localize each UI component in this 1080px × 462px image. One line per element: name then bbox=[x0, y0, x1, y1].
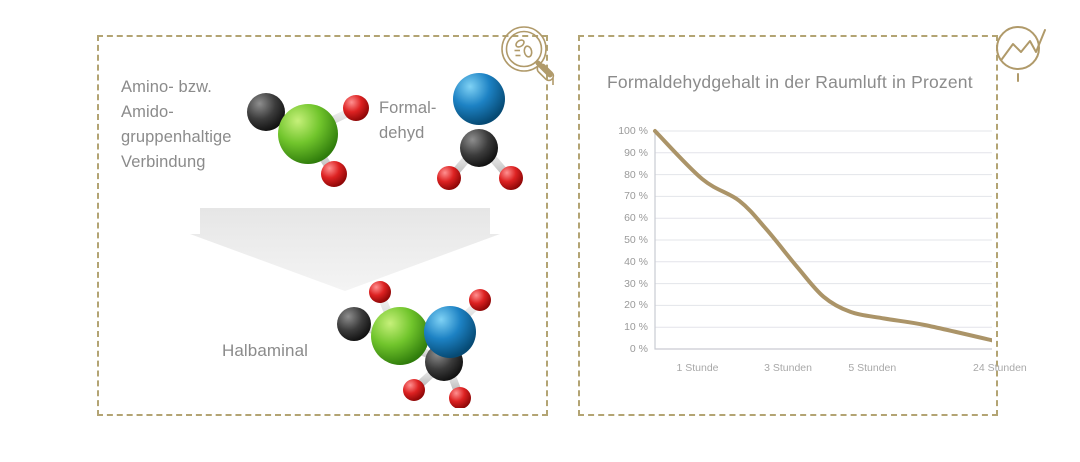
y-axis-tick-label: 60 % bbox=[602, 213, 648, 223]
chart-title: Formaldehydgehalt in der Raumluft in Pro… bbox=[607, 72, 973, 93]
y-axis-tick-label: 100 % bbox=[602, 126, 648, 136]
chart-plot: 100 %90 %80 %70 %60 %50 %40 %30 %20 %10 … bbox=[596, 120, 992, 375]
y-axis-tick-label: 70 % bbox=[602, 191, 648, 201]
y-axis-tick-label: 50 % bbox=[602, 235, 648, 245]
chart-series-line bbox=[655, 131, 992, 340]
y-axis-tick-label: 90 % bbox=[602, 148, 648, 158]
y-axis-tick-label: 40 % bbox=[602, 257, 648, 267]
x-axis-tick-label: 24 Stunden bbox=[973, 362, 1027, 374]
y-axis-tick-label: 30 % bbox=[602, 279, 648, 289]
x-axis-tick-label: 5 Stunden bbox=[848, 362, 896, 374]
label-halbaminal: Halbaminal bbox=[222, 338, 308, 363]
y-axis-tick-label: 20 % bbox=[602, 300, 648, 310]
label-formaldehyde: Formal- dehyd bbox=[379, 96, 437, 146]
infographic-stage: Amino- bzw. Amido- gruppenhaltige Verbin… bbox=[0, 0, 1080, 462]
amino-compound-molecule bbox=[236, 82, 386, 194]
formaldehyde-molecule bbox=[432, 66, 528, 194]
x-axis-tick-label: 1 Stunde bbox=[676, 362, 718, 374]
x-axis-tick-label: 3 Stunden bbox=[764, 362, 812, 374]
halbaminal-molecule bbox=[322, 274, 518, 408]
label-amino-compound: Amino- bzw. Amido- gruppenhaltige Verbin… bbox=[121, 75, 232, 175]
y-axis-tick-label: 80 % bbox=[602, 170, 648, 180]
trend-chart-icon bbox=[990, 22, 1052, 84]
chart-svg bbox=[596, 120, 992, 375]
y-axis-tick-label: 10 % bbox=[602, 322, 648, 332]
y-axis-tick-label: 0 % bbox=[602, 344, 648, 354]
